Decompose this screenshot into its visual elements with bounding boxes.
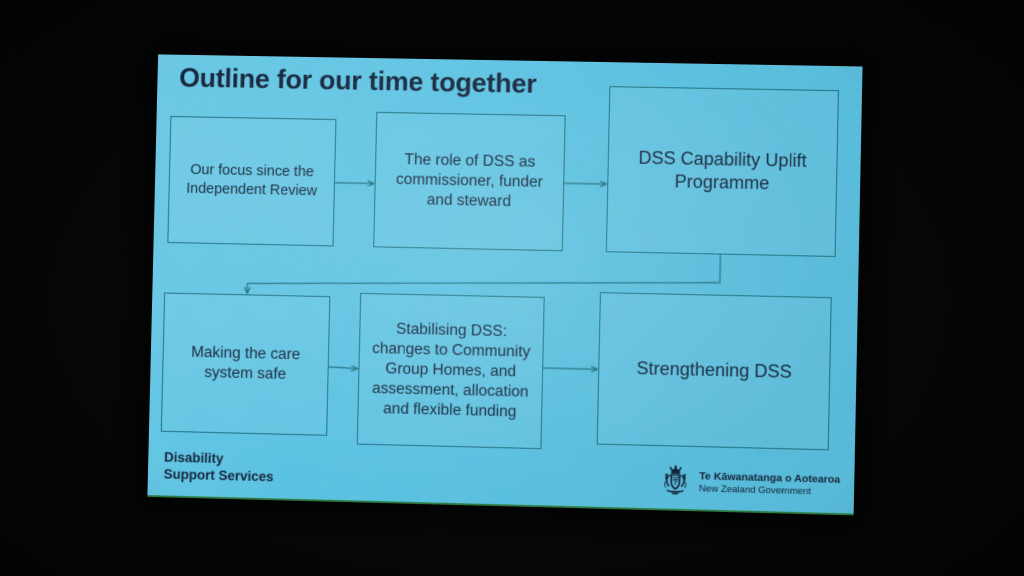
nzgovt-maori-text: Te Kāwanatanga o Aotearoa	[699, 470, 840, 486]
flow-box-role-of-dss: The role of DSS as commissioner, funder …	[373, 112, 565, 251]
nz-government-logo: Te Kāwanatanga o Aotearoa New Zealand Go…	[657, 464, 840, 503]
flow-box-making-the-care-system-safe: Making the care system safe	[161, 293, 331, 436]
connector-focus-to-role	[335, 183, 374, 184]
nz-government-wordmark: Te Kāwanatanga o Aotearoa New Zealand Go…	[699, 470, 841, 498]
flow-box-label: Making the care system safe	[163, 342, 328, 385]
disability-support-services-wordmark: Disability Support Services	[163, 450, 274, 486]
flow-box-label: Our focus since the Independent Review	[169, 161, 334, 201]
projection-room-backdrop: Outline for our time together	[0, 0, 1024, 576]
connector-stabilising-to-strengthen	[543, 368, 597, 369]
projected-slide-warp: Outline for our time together	[147, 54, 862, 515]
flow-box-label: DSS Capability Uplift Programme	[608, 146, 837, 197]
nzgovt-english-text: New Zealand Government	[699, 483, 840, 498]
flow-box-strengthening-dss: Strengthening DSS	[597, 292, 832, 450]
flow-box-dss-capability-uplift-programme: DSS Capability Uplift Programme	[606, 86, 839, 257]
flow-box-label: Strengthening DSS	[629, 357, 799, 384]
slide-stage: Outline for our time together	[0, 0, 1024, 576]
connector-role-to-capability	[564, 183, 606, 184]
slide-content: Outline for our time together	[147, 54, 862, 515]
flow-box-stabilising-dss: Stabilising DSS: changes to Community Gr…	[357, 293, 545, 449]
dss-wordmark-line-2: Support Services	[163, 467, 273, 487]
presentation-slide: Outline for our time together	[147, 54, 862, 515]
nz-coat-of-arms-icon	[657, 464, 692, 499]
flow-box-label: The role of DSS as commissioner, funder …	[375, 150, 564, 213]
connector-care-safe-to-stabilising	[329, 367, 358, 369]
projector-green-edge-artifact	[147, 495, 855, 516]
flow-box-our-focus-since-the-independent-review: Our focus since the Independent Review	[167, 116, 336, 246]
flow-box-label: Stabilising DSS: changes to Community Gr…	[358, 319, 543, 422]
page-title: Outline for our time together	[179, 63, 537, 100]
